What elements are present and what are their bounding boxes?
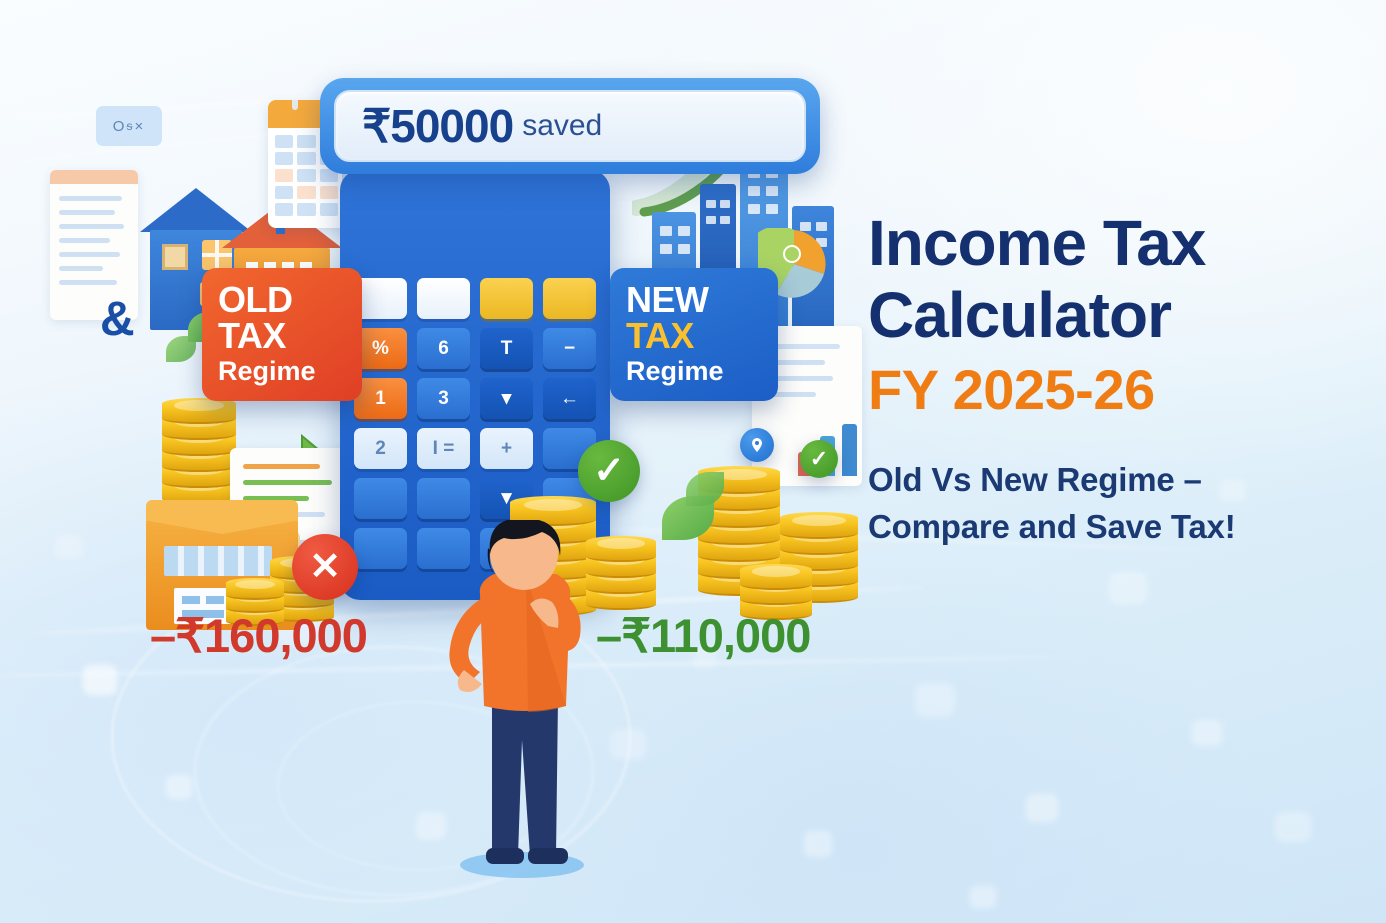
calc-key-minus[interactable]: − bbox=[543, 328, 596, 369]
coin-stack-left-top bbox=[162, 390, 236, 500]
badge-new-line3: Regime bbox=[626, 358, 762, 385]
badge-new-tax-regime[interactable]: NEW TAX Regime bbox=[610, 268, 778, 401]
calculator-display-frame: ₹50000 saved bbox=[320, 78, 820, 174]
badge-old-line3: Regime bbox=[218, 358, 346, 385]
speech-bubble-translate: Oᵴ× bbox=[96, 106, 162, 146]
badge-old-tax-regime[interactable]: OLD TAX Regime bbox=[202, 268, 362, 401]
badge-old-line1: OLD bbox=[218, 282, 346, 318]
subtitle-line-2: Compare and Save Tax! bbox=[868, 505, 1348, 550]
calc-key-3[interactable]: 3 bbox=[417, 378, 470, 419]
subtitle-line-1: Old Vs New Regime – bbox=[868, 458, 1348, 503]
hero-illustration: Oᵴ× & bbox=[40, 40, 870, 900]
fiscal-year: FY 2025-26 bbox=[868, 357, 1348, 422]
person-illustration bbox=[430, 520, 610, 880]
calc-key[interactable] bbox=[543, 278, 596, 319]
plant-left-3 bbox=[166, 336, 196, 362]
calc-key-2[interactable]: 2 bbox=[354, 428, 407, 469]
calc-key-6[interactable]: 6 bbox=[417, 328, 470, 369]
cross-glyph: ✕ bbox=[309, 548, 341, 586]
calc-key[interactable] bbox=[480, 278, 533, 319]
calc-key-plus[interactable]: + bbox=[480, 428, 533, 469]
cross-icon[interactable]: ✕ bbox=[292, 534, 358, 600]
badge-new-line2: TAX bbox=[626, 318, 762, 354]
new-regime-amount: –₹110,000 bbox=[596, 608, 810, 664]
poster-canvas: Oᵴ× & bbox=[0, 0, 1386, 923]
calc-key[interactable] bbox=[417, 278, 470, 319]
calc-key-equals[interactable]: I = bbox=[417, 428, 470, 469]
ampersand-icon: & bbox=[100, 292, 135, 347]
calc-key-down[interactable]: ▾ bbox=[480, 378, 533, 419]
title-line-2: Calculator bbox=[868, 280, 1348, 352]
check-icon[interactable]: ✓ bbox=[578, 440, 640, 502]
badge-old-line2: TAX bbox=[218, 318, 346, 354]
calc-key[interactable] bbox=[354, 528, 407, 569]
old-regime-amount: –₹160,000 bbox=[150, 608, 367, 664]
title-line-1: Income Tax bbox=[868, 208, 1348, 280]
check-icon-small[interactable]: ✓ bbox=[800, 440, 838, 478]
check-glyph: ✓ bbox=[593, 452, 625, 490]
calc-key[interactable] bbox=[417, 478, 470, 519]
badge-new-line1: NEW bbox=[626, 282, 762, 318]
calculator-display: ₹50000 saved bbox=[334, 90, 806, 162]
calc-key[interactable] bbox=[354, 478, 407, 519]
saved-label: saved bbox=[522, 109, 602, 143]
check-glyph-small: ✓ bbox=[810, 448, 828, 470]
calc-key[interactable]: Т bbox=[480, 328, 533, 369]
calc-key-back[interactable]: ← bbox=[543, 378, 596, 419]
saved-amount: ₹50000 bbox=[362, 99, 513, 153]
headline-block: Income Tax Calculator FY 2025-26 Old Vs … bbox=[868, 208, 1348, 550]
